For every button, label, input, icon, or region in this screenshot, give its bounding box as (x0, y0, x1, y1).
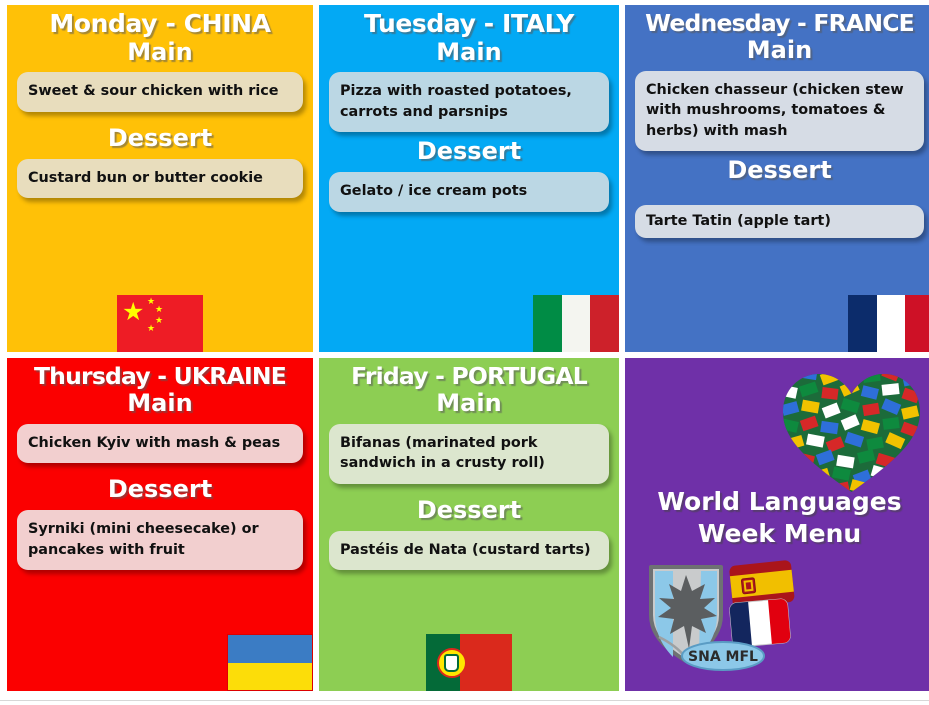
sna-mfl-badge: SNA MFL (682, 642, 764, 670)
dessert-label-wednesday: Dessert (727, 157, 831, 184)
dessert-box-monday: Custard bun or butter cookie (17, 159, 303, 198)
day-cell-monday: Monday - CHINA Main Sweet & sour chicken… (7, 5, 313, 352)
day-title-wednesday: Wednesday - FRANCE (645, 11, 914, 36)
sna-mfl-label: SNA MFL (688, 649, 758, 665)
main-label-thursday: Main (127, 390, 192, 417)
flag-stripe (562, 295, 591, 352)
bottom-divider (0, 700, 929, 701)
main-label-tuesday: Main (436, 39, 501, 66)
italy-flag-icon (533, 295, 619, 352)
flag-stripe (533, 295, 562, 352)
dessert-box-wednesday: Tarte Tatin (apple tart) (635, 205, 924, 238)
day-cell-tuesday: Tuesday - ITALY Main Pizza with roasted … (319, 5, 619, 352)
flag-stripe (460, 634, 512, 691)
day-title-monday: Monday - CHINA (49, 11, 270, 38)
main-label-friday: Main (436, 390, 501, 417)
flag-stripe (590, 295, 619, 352)
dessert-label-thursday: Dessert (108, 476, 212, 503)
dessert-box-tuesday: Gelato / ice cream pots (329, 172, 609, 211)
flag-stripe (228, 663, 312, 691)
dessert-label-tuesday: Dessert (417, 138, 521, 165)
flag-star: ★ (147, 325, 155, 334)
france-flag-icon (729, 598, 791, 647)
main-label-wednesday: Main (747, 37, 812, 64)
sna-mfl-logo: SNA MFL (643, 553, 803, 673)
portugal-flag-icon (426, 634, 512, 691)
dessert-box-thursday: Syrniki (mini cheesecake) or pancakes wi… (17, 510, 303, 570)
main-dish-box-thursday: Chicken Kyiv with mash & peas (17, 424, 303, 463)
dessert-box-friday: Pastéis de Nata (custard tarts) (329, 531, 609, 570)
day-title-friday: Friday - PORTUGAL (351, 364, 587, 389)
flag-star: ★ (122, 299, 144, 324)
main-label-monday: Main (127, 39, 192, 66)
ukraine-flag-icon (227, 634, 313, 691)
main-dish-box-friday: Bifanas (marinated pork sandwich in a cr… (329, 424, 609, 484)
promo-cell: World Languages Week Menu (625, 358, 929, 691)
france-flag-icon (848, 295, 929, 352)
main-dish-box-wednesday: Chicken chasseur (chicken stew with mush… (635, 71, 924, 151)
menu-grid: Monday - CHINA Main Sweet & sour chicken… (7, 5, 922, 691)
main-dish-box-tuesday: Pizza with roasted potatoes, carrots and… (329, 72, 609, 132)
china-flag-icon: ★ ★ ★ ★ ★ (117, 295, 203, 352)
flag-star: ★ (155, 306, 163, 315)
promo-title: World Languages Week Menu (625, 486, 929, 550)
day-cell-wednesday: Wednesday - FRANCE Main Chicken chasseur… (625, 5, 929, 352)
day-cell-thursday: Thursday - UKRAINE Main Chicken Kyiv wit… (7, 358, 313, 691)
flag-stripe (905, 295, 929, 352)
dessert-label-friday: Dessert (417, 497, 521, 524)
dessert-label-monday: Dessert (108, 125, 212, 152)
flag-stripe (877, 295, 906, 352)
promo-title-line1: World Languages (625, 486, 929, 518)
flag-star: ★ (147, 298, 155, 307)
day-cell-friday: Friday - PORTUGAL Main Bifanas (marinate… (319, 358, 619, 691)
world-languages-week-menu-poster: Monday - CHINA Main Sweet & sour chicken… (0, 0, 929, 705)
flag-star: ★ (155, 317, 163, 326)
flags-heart-icon (779, 366, 924, 496)
flag-stripe (228, 635, 312, 663)
flag-stripe (848, 295, 877, 352)
main-dish-box-monday: Sweet & sour chicken with rice (17, 72, 303, 111)
day-title-tuesday: Tuesday - ITALY (364, 11, 574, 38)
day-title-thursday: Thursday - UKRAINE (34, 364, 286, 389)
promo-title-line2: Week Menu (625, 518, 929, 550)
portugal-crest-icon (437, 648, 467, 678)
